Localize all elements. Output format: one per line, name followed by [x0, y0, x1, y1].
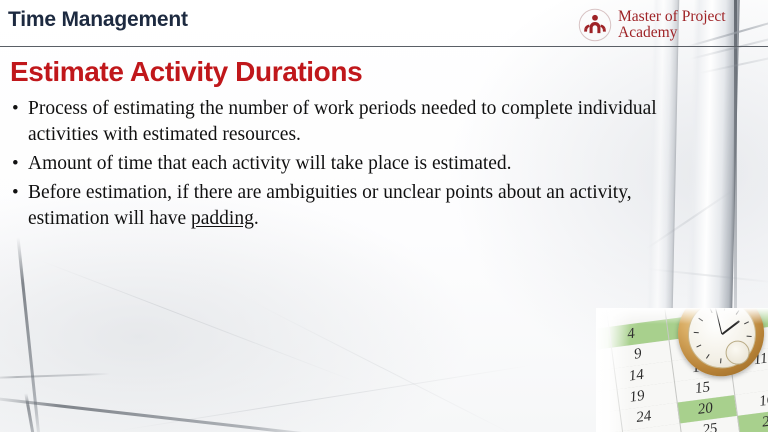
- header-divider: [0, 46, 768, 47]
- bullet-text: Amount of time that each activity will t…: [28, 151, 700, 177]
- bullet-text-segment: .: [254, 208, 259, 229]
- calendar-watch-photo: F 4 9 14 19 24 5 10 15 20 25 11 16 21: [596, 308, 768, 432]
- bullet-text-segment: Amount of time that each activity will t…: [28, 153, 512, 174]
- bullet-text: Process of estimating the number of work…: [28, 96, 700, 148]
- background-beam: [700, 52, 768, 74]
- background-strut-line: [0, 373, 110, 379]
- background-strut-line: [25, 393, 37, 432]
- academy-figure-icon: [578, 8, 612, 42]
- brand-line-2: Academy: [618, 25, 726, 41]
- bullet-text-segment: Process of estimating the number of work…: [28, 98, 657, 145]
- background-strut-line: [120, 364, 535, 431]
- calendar-date: 4: [626, 326, 636, 344]
- header-title: Time Management: [8, 8, 188, 32]
- brand-logo: Master of Project Academy: [578, 8, 726, 42]
- bullet-text-segment: Before estimation, if there are ambiguit…: [28, 182, 632, 229]
- watch-subdial: [725, 340, 751, 366]
- calendar-date: 19: [629, 388, 646, 407]
- bullet-glyph: •: [10, 180, 28, 206]
- calendar-date: 14: [628, 367, 645, 386]
- background-strut-line: [40, 260, 358, 383]
- background-strut-line: [17, 237, 42, 432]
- page-title: Estimate Activity Durations: [10, 56, 362, 88]
- calendar-date: 25: [702, 421, 719, 432]
- watch-hour-hand: [721, 320, 740, 335]
- watch-face: [685, 308, 758, 371]
- watch-minute-hand: [715, 308, 723, 334]
- slide: Time Management Master of Project Academ…: [0, 0, 768, 432]
- emphasized-term: padding: [191, 208, 254, 229]
- calendar-date: 9: [633, 346, 643, 364]
- calendar-grid: F 4 9 14 19 24 5 10 15 20 25 11 16 21: [596, 308, 768, 432]
- calendar-date: 21: [761, 413, 768, 432]
- bullet-glyph: •: [10, 151, 28, 177]
- bullet-list: •Process of estimating the number of wor…: [10, 96, 700, 235]
- calendar-date: 20: [697, 400, 714, 419]
- calendar-date: 16: [758, 392, 768, 411]
- background-column-edge: [734, 0, 737, 320]
- brand-line-1: Master of Project: [618, 8, 726, 25]
- background-strut-line: [0, 396, 324, 432]
- calendar-date: 24: [635, 408, 652, 427]
- brand-text: Master of Project Academy: [618, 9, 726, 41]
- bullet-amount-of-time: •Amount of time that each activity will …: [10, 151, 700, 177]
- bullet-glyph: •: [10, 96, 28, 122]
- calendar-date: 15: [694, 379, 711, 398]
- background-beam: [648, 268, 768, 284]
- bullet-process-of-estimating: •Process of estimating the number of wor…: [10, 96, 700, 148]
- bullet-before-estimation: •Before estimation, if there are ambigui…: [10, 180, 700, 232]
- background-strut-line: [250, 300, 518, 432]
- bullet-text: Before estimation, if there are ambiguit…: [28, 180, 700, 232]
